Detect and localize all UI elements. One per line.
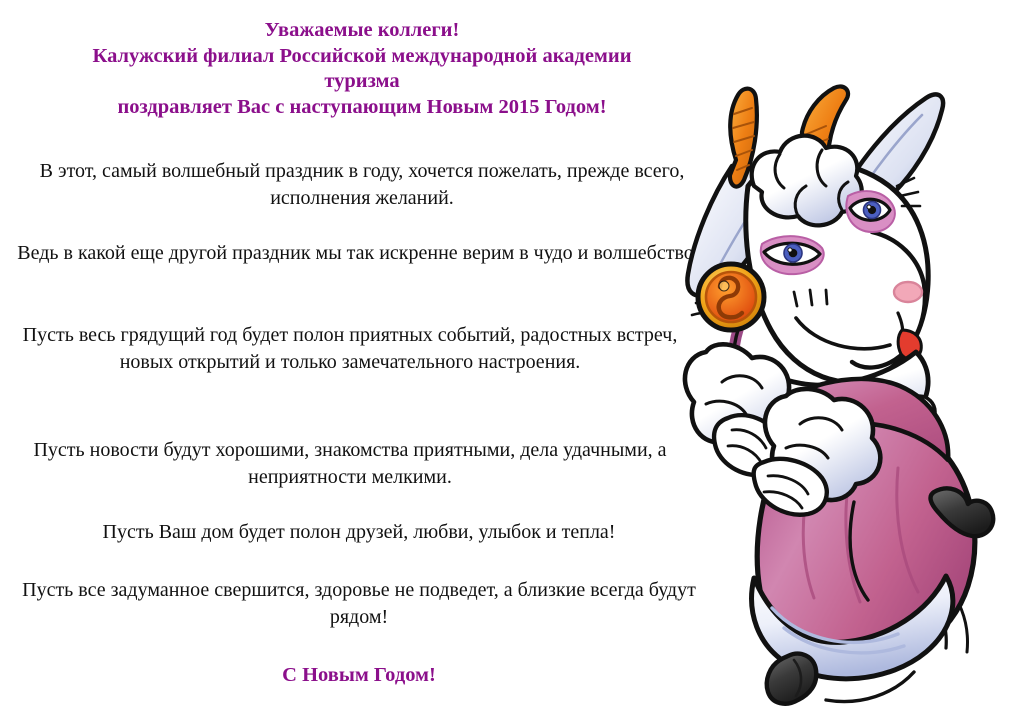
greeting-closing-line: С Новым Годом! xyxy=(0,662,718,688)
header-line-3: туризма xyxy=(0,69,724,95)
goat-eye-right-icon xyxy=(850,199,890,220)
goat-nose-icon xyxy=(894,282,922,302)
greeting-card-page: Уважаемые коллеги! Калужский филиал Росс… xyxy=(0,0,1024,719)
goat-hoof-hand-far-icon xyxy=(714,415,783,475)
goat-tongue-icon xyxy=(898,330,921,359)
goat-hoof-hand-near-icon xyxy=(754,459,827,515)
goat-arm-cuff-near-icon xyxy=(765,389,880,500)
motion-lines-icon xyxy=(826,578,967,702)
new-year-goat-illustration xyxy=(676,0,1024,719)
goat-dress-body-icon xyxy=(757,424,975,666)
greeting-paragraph-6: Пусть все задуманное свершится, здоровье… xyxy=(0,577,718,631)
goat-muzzle-icon xyxy=(852,232,925,368)
header-line-2: Калужский филиал Российской международно… xyxy=(0,44,724,70)
greeting-paragraph-5: Пусть Ваш дом будет полон друзей, любви,… xyxy=(0,519,718,546)
goat-figure-icon xyxy=(676,0,1024,719)
goat-horn-left-icon xyxy=(730,89,757,187)
goat-eye-left-eyeshadow xyxy=(761,236,824,274)
goat-eye-right-eyeshadow xyxy=(846,191,894,232)
dress-neckline-icon xyxy=(734,330,762,428)
header-line-4: поздравляет Вас с наступающим Новым 2015… xyxy=(0,95,724,121)
goat-hoof-back-icon xyxy=(931,488,994,536)
goat-mouth-icon xyxy=(898,313,903,338)
greeting-paragraph-3: Пусть весь грядущий год будет полон прия… xyxy=(0,322,700,376)
greeting-header: Уважаемые коллеги! Калужский филиал Росс… xyxy=(0,0,724,120)
goat-head-icon xyxy=(746,159,928,382)
goat-eye-left-icon xyxy=(764,243,820,264)
goat-forelock-curls-icon xyxy=(752,136,862,226)
goat-horn-right-icon xyxy=(802,86,848,178)
greeting-text-column: Уважаемые коллеги! Калужский филиал Росс… xyxy=(0,0,724,719)
dress-fur-hem-icon xyxy=(752,576,953,679)
dress-shoulder-icon xyxy=(782,379,948,460)
goat-hoof-front-icon xyxy=(767,654,817,704)
header-line-1: Уважаемые коллеги! xyxy=(0,0,724,44)
goat-fur-collar-icon xyxy=(737,352,928,446)
greeting-paragraph-1: В этот, самый волшебный праздник в году,… xyxy=(0,158,724,212)
collar-scallops xyxy=(754,396,935,465)
goat-right-ear-icon xyxy=(836,94,943,219)
greeting-paragraph-2: Ведь в какой еще другой праздник мы так … xyxy=(0,240,716,267)
greeting-paragraph-4: Пусть новости будут хорошими, знакомства… xyxy=(0,437,700,491)
